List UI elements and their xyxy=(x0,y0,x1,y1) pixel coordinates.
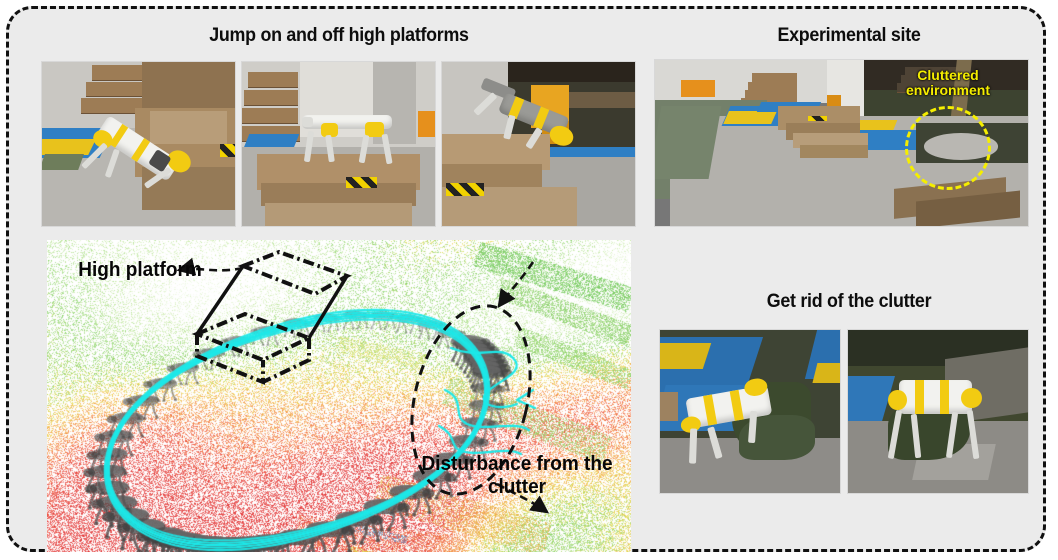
photo-robot-entangled-in-cloth xyxy=(659,329,841,494)
photo-robot-escaping-cloth xyxy=(847,329,1029,494)
cluttered-environment-label: Cluttered environment xyxy=(883,68,1013,97)
photo-robot-standing-on-platform xyxy=(241,61,436,227)
label-disturbance: Disturbance from the clutter xyxy=(414,453,619,499)
cluttered-env-line2: environment xyxy=(906,82,990,98)
label-disturbance-line2: clutter xyxy=(488,476,546,498)
pointcloud-annotation-overlay xyxy=(47,240,631,552)
photo-experimental-site: Cluttered environment xyxy=(654,59,1029,227)
panel-title-get-rid-of-clutter: Get rid of the clutter xyxy=(661,291,1037,313)
label-high-platform: High platform xyxy=(78,259,202,282)
figure-frame: Jump on and off high platforms Experimen… xyxy=(6,6,1046,552)
panel-title-jump: Jump on and off high platforms xyxy=(57,25,621,47)
pointcloud-visualization xyxy=(47,240,631,552)
photo-robot-jumping-onto-platform xyxy=(441,61,636,227)
panel-title-experimental-site: Experimental site xyxy=(661,25,1037,47)
cluttered-env-line1: Cluttered xyxy=(917,67,978,83)
cluttered-environment-circle xyxy=(905,106,991,190)
photo-robot-jumping-off-platform xyxy=(41,61,236,227)
label-disturbance-line1: Disturbance from the xyxy=(421,453,612,475)
